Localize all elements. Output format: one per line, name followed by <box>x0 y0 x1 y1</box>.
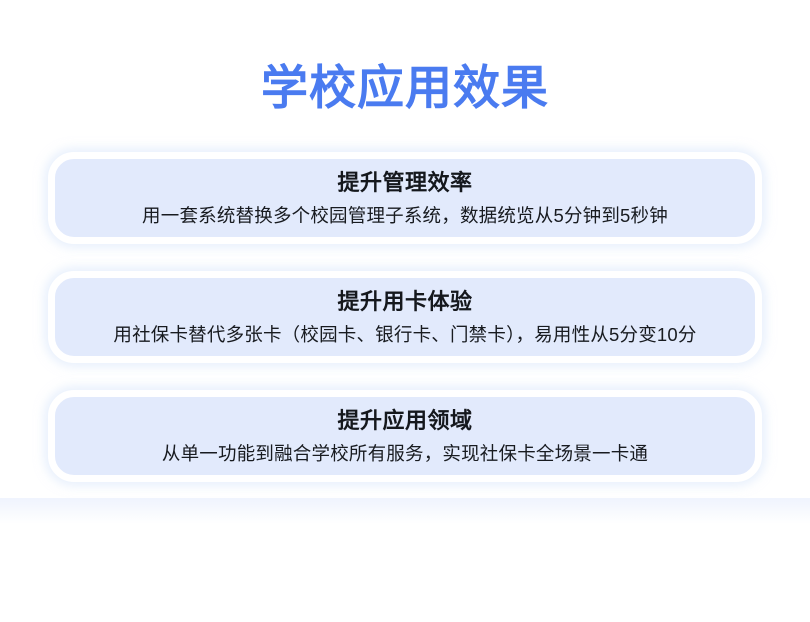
benefit-card-list: 提升管理效率 用一套系统替换多个校园管理子系统，数据统览从5分钟到5秒钟 提升用… <box>48 152 762 482</box>
benefit-card-title: 提升用卡体验 <box>337 287 472 317</box>
page-root: 学校应用效果 提升管理效率 用一套系统替换多个校园管理子系统，数据统览从5分钟到… <box>0 0 810 622</box>
benefit-card: 提升应用领域 从单一功能到融合学校所有服务，实现社保卡全场景一卡通 <box>48 390 762 482</box>
benefit-card-description: 从单一功能到融合学校所有服务，实现社保卡全场景一卡通 <box>162 440 648 467</box>
benefit-card-description: 用一套系统替换多个校园管理子系统，数据统览从5分钟到5秒钟 <box>142 202 668 229</box>
benefit-card-description: 用社保卡替代多张卡（校园卡、银行卡、门禁卡），易用性从5分变10分 <box>113 321 696 348</box>
benefit-card: 提升用卡体验 用社保卡替代多张卡（校园卡、银行卡、门禁卡），易用性从5分变10分 <box>48 271 762 363</box>
page-title: 学校应用效果 <box>0 60 810 116</box>
benefit-card: 提升管理效率 用一套系统替换多个校园管理子系统，数据统览从5分钟到5秒钟 <box>48 152 762 244</box>
benefit-card-title: 提升应用领域 <box>337 406 472 436</box>
bottom-fade-decoration <box>0 498 810 524</box>
benefit-card-title: 提升管理效率 <box>337 168 472 198</box>
